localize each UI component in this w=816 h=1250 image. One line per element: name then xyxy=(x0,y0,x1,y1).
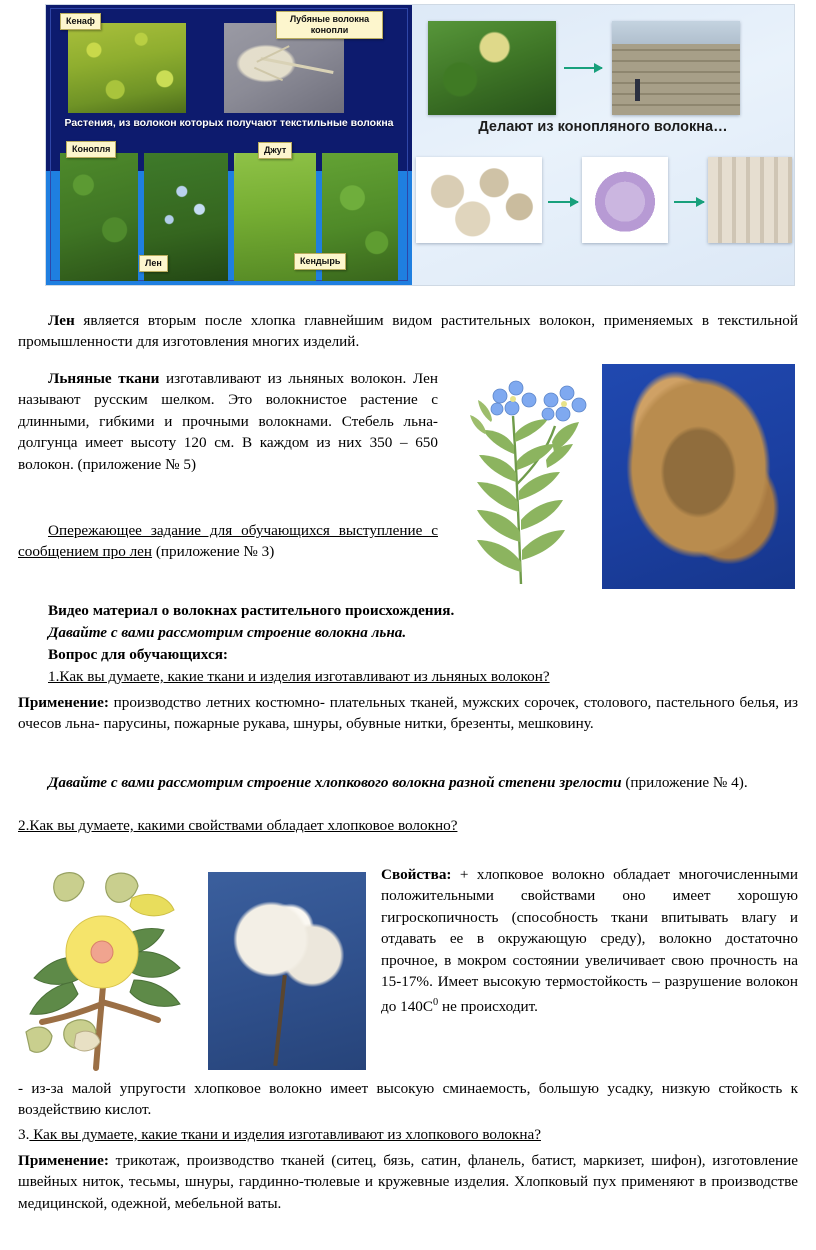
question-1: 1.Как вы думаете, какие ткани и изделия … xyxy=(18,666,798,687)
tag-kenaf: Кенаф xyxy=(60,13,101,30)
paragraph-flax-application: Применение: производство летних костюмно… xyxy=(18,692,798,735)
tag-hemp: Конопля xyxy=(66,141,116,158)
paragraph-question-header: Вопрос для обучающихся: xyxy=(18,644,798,665)
cotton-structure-tail: (приложение № 4). xyxy=(622,774,748,791)
advance-task-tail: (приложение № 3) xyxy=(152,543,274,560)
arrow-coils-to-sliver xyxy=(548,201,578,203)
hemp-rope-coils-photo xyxy=(416,157,542,243)
arrow-sliver-to-fabric xyxy=(674,201,704,203)
paragraph-video-material: Видео материал о волокнах растительного … xyxy=(18,600,798,621)
tag-flax: Лен xyxy=(139,255,168,272)
paragraph-flax-structure-invite: Давайте с вами рассмотрим строение волок… xyxy=(18,622,798,643)
flax-plant-illustration xyxy=(455,364,590,589)
hemp-crop-photo xyxy=(428,21,556,115)
flax-application-rest: производство летних костюмно- плательных… xyxy=(18,694,798,732)
slide-left-title: Растения, из волокон которых получают те… xyxy=(60,117,398,130)
tag-hemp-bast-fiber: Лубяные волокна конопли xyxy=(276,11,383,39)
lesson-slide-figure: Кенаф Лубяные волокна конопли Растения, … xyxy=(45,4,795,286)
fabric-rolls-photo xyxy=(708,157,792,243)
flax-illustration-svg xyxy=(455,364,590,589)
flax-fiber-photo xyxy=(602,364,795,589)
flax-intro-lead: Лен xyxy=(48,312,75,329)
question-3-underlined: Как вы думаете, какие ткани и изделия из… xyxy=(29,1126,541,1143)
paragraph-cotton-properties: Свойства: + хлопковое волокно обладает м… xyxy=(381,864,798,1018)
paragraph-cotton-drawbacks: - из-за малой упругости хлопковое волокн… xyxy=(18,1078,798,1121)
cotton-application-lead: Применение: xyxy=(18,1152,109,1169)
slide-right-title: Делают из конопляного волокна… xyxy=(412,119,794,135)
slide-right-panel: Делают из конопляного волокна… xyxy=(412,5,794,285)
question-2: 2.Как вы думаете, какими свойствами обла… xyxy=(18,815,798,836)
paragraph-advance-task: Опережающее задание для обучающихся выст… xyxy=(18,520,438,563)
flax-application-lead: Применение: xyxy=(18,694,109,711)
flax-intro-rest: является вторым после хлопка главнейшим … xyxy=(18,312,798,350)
hemp-plant-photo xyxy=(60,153,138,281)
paragraph-flax-fabrics: Льняные ткани изготавливают из льняных в… xyxy=(18,368,438,475)
tag-jute: Джут xyxy=(258,142,292,159)
hemp-bales-photo xyxy=(612,21,740,115)
arrow-hemp-to-bales xyxy=(564,67,602,69)
cotton-illustration-svg xyxy=(24,862,194,1072)
cotton-structure-italic: Давайте с вами рассмотрим строение хлопк… xyxy=(48,774,622,791)
cotton-boll-photo xyxy=(208,872,366,1070)
cotton-plant-illustration xyxy=(24,862,194,1072)
properties-rest-b: не происходит. xyxy=(438,999,538,1016)
cotton-application-rest: трикотаж, производство тканей (ситец, бя… xyxy=(18,1152,798,1212)
properties-lead: Свойства: xyxy=(381,866,451,883)
flax-fabrics-lead: Льняные ткани xyxy=(48,370,159,387)
paragraph-flax-intro: Лен является вторым после хлопка главней… xyxy=(18,310,798,353)
paragraph-cotton-application: Применение: трикотаж, производство ткане… xyxy=(18,1150,798,1214)
purple-fiber-sliver-photo xyxy=(582,157,668,243)
tag-kendyr: Кендырь xyxy=(294,253,346,270)
properties-rest-a: + хлопковое волокно обладает многочислен… xyxy=(381,866,798,1016)
paragraph-cotton-structure-invite: Давайте с вами рассмотрим строение хлопк… xyxy=(18,772,798,793)
kenaf-field-photo xyxy=(68,23,186,113)
slide-left-panel: Кенаф Лубяные волокна конопли Растения, … xyxy=(46,5,412,285)
question-3: 3. Как вы думаете, какие ткани и изделия… xyxy=(18,1124,798,1145)
question-3-number: 3. xyxy=(18,1126,29,1143)
